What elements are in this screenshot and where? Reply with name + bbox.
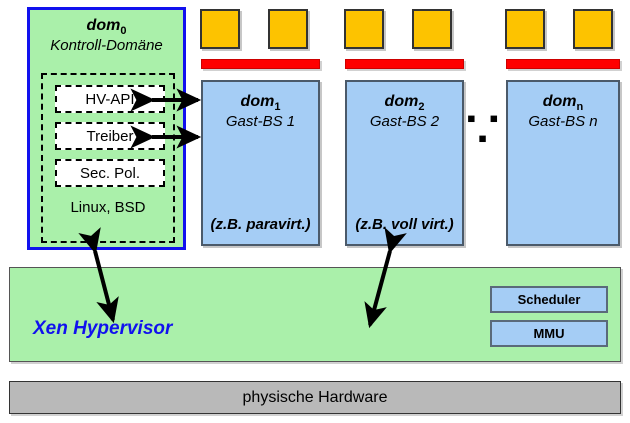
guest-domain-box-domn: domn Gast-BS n <box>506 80 620 246</box>
control-domain-subtitle: Kontroll-Domäne <box>30 36 183 55</box>
control-domain-name-text: dom <box>87 17 121 34</box>
guest-domain-name-text-dom2: dom <box>385 93 419 110</box>
separator-bar-dom2 <box>345 59 464 69</box>
app-box-domn-b <box>573 9 613 49</box>
separator-bar-dom1 <box>201 59 320 69</box>
control-domain-stack: HV-API Treiber Sec. Pol. Linux, BSD <box>41 73 175 243</box>
app-box-domn-a <box>505 9 545 49</box>
component-treiber: Treiber <box>55 122 165 150</box>
guest-domain-note-dom1: (z.B. paravirt.) <box>203 215 318 234</box>
hardware-box: physische Hardware <box>9 381 621 414</box>
guest-domain-os-dom2: Gast-BS 2 <box>347 112 462 131</box>
hypervisor-label: Xen Hypervisor <box>33 318 172 340</box>
component-sec-pol: Sec. Pol. <box>55 159 165 187</box>
guest-domain-name-text-domn: dom <box>543 93 577 110</box>
hypervisor-module-mmu: MMU <box>490 320 608 347</box>
guest-domain-name-text-dom1: dom <box>241 93 275 110</box>
control-domain-os-label: Linux, BSD <box>43 199 173 216</box>
control-domain-box: dom0 Kontroll-Domäne HV-API Treiber Sec.… <box>27 7 186 250</box>
separator-bar-domn <box>506 59 620 69</box>
guest-domain-box-dom1: dom1 Gast-BS 1 (z.B. paravirt.) <box>201 80 320 246</box>
hypervisor-box: Xen Hypervisor Scheduler MMU <box>9 267 621 362</box>
guest-domain-os-domn: Gast-BS n <box>508 112 618 131</box>
guest-domain-os-dom1: Gast-BS 1 <box>203 112 318 131</box>
app-box-dom1-b <box>268 9 308 49</box>
guest-domain-note-dom2: (z.B. voll virt.) <box>347 215 462 234</box>
app-box-dom2-b <box>412 9 452 49</box>
diagram-canvas: dom0 Kontroll-Domäne HV-API Treiber Sec.… <box>0 0 630 423</box>
ellipsis-indicator: ▪ ▪ ▪ <box>462 108 506 148</box>
app-box-dom2-a <box>344 9 384 49</box>
guest-domain-box-dom2: dom2 Gast-BS 2 (z.B. voll virt.) <box>345 80 464 246</box>
hypervisor-module-scheduler: Scheduler <box>490 286 608 313</box>
component-hv-api: HV-API <box>55 85 165 113</box>
app-box-dom1-a <box>200 9 240 49</box>
